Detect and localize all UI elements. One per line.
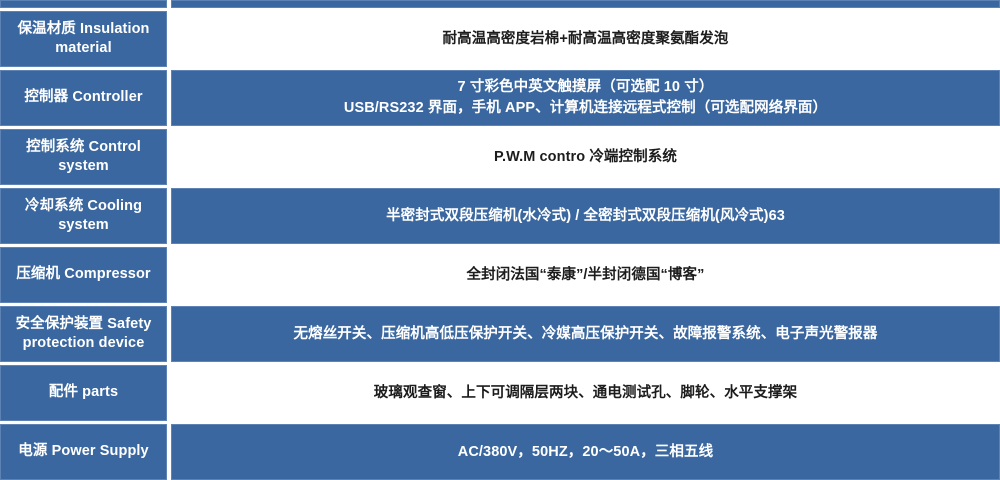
- table-cell-value: 玻璃观查窗、上下可调隔层两块、通电测试孔、脚轮、水平支撑架: [171, 365, 1000, 421]
- table-cell-value-line: USB/RS232 界面，手机 APP、计算机连接远程式控制（可选配网络界面）: [344, 98, 827, 119]
- table-row: 控制器 Controller7 寸彩色中英文触摸屏（可选配 10 寸）USB/R…: [0, 70, 1000, 126]
- table-row: 压缩机 Compressor全封闭法国“泰康”/半封闭德国“博客”: [0, 247, 1000, 303]
- table-cell-value-line: 7 寸彩色中英文触摸屏（可选配 10 寸）: [344, 77, 827, 98]
- table-row: 控制系统 Control systemP.W.M contro 冷端控制系统: [0, 129, 1000, 185]
- table-row: 配件 parts玻璃观查窗、上下可调隔层两块、通电测试孔、脚轮、水平支撑架: [0, 365, 1000, 421]
- table-row: 保温材质 Insulation material耐高温高密度岩棉+耐高温高密度聚…: [0, 11, 1000, 67]
- table-cell-label: 压缩机 Compressor: [0, 247, 167, 303]
- table-cell-value: [171, 0, 1000, 8]
- table-cell-value: 无熔丝开关、压缩机高低压保护开关、冷媒高压保护开关、故障报警系统、电子声光警报器: [171, 306, 1000, 362]
- table-row: 安全保护装置 Safety protection device无熔丝开关、压缩机…: [0, 306, 1000, 362]
- table-cell-value-line: 半密封式双段压缩机(水冷式) / 全密封式双段压缩机(风冷式)63: [386, 206, 785, 227]
- table-cell-value: P.W.M contro 冷端控制系统: [171, 129, 1000, 185]
- table-row: 冷却系统 Cooling system半密封式双段压缩机(水冷式) / 全密封式…: [0, 188, 1000, 244]
- table-cell-label: [0, 0, 167, 8]
- table-cell-value-line: 全封闭法国“泰康”/半封闭德国“博客”: [467, 265, 705, 286]
- table-cell-value: 半密封式双段压缩机(水冷式) / 全密封式双段压缩机(风冷式)63: [171, 188, 1000, 244]
- table-cell-value-line: AC/380V，50HZ，20～50A，三相五线: [458, 442, 713, 463]
- table-cell-label: 电源 Power Supply: [0, 424, 167, 480]
- table-row-partial-top: [0, 0, 1000, 8]
- table-cell-value-line: 耐高温高密度岩棉+耐高温高密度聚氨酯发泡: [443, 29, 729, 50]
- specification-table: 保温材质 Insulation material耐高温高密度岩棉+耐高温高密度聚…: [0, 0, 1000, 466]
- table-cell-value: 7 寸彩色中英文触摸屏（可选配 10 寸）USB/RS232 界面，手机 APP…: [171, 70, 1000, 126]
- table-cell-label: 控制器 Controller: [0, 70, 167, 126]
- table-row: 电源 Power SupplyAC/380V，50HZ，20～50A，三相五线: [0, 424, 1000, 480]
- table-cell-value-line: 玻璃观查窗、上下可调隔层两块、通电测试孔、脚轮、水平支撑架: [374, 383, 797, 404]
- table-cell-label: 配件 parts: [0, 365, 167, 421]
- table-body: 保温材质 Insulation material耐高温高密度岩棉+耐高温高密度聚…: [0, 11, 1000, 480]
- table-cell-label: 安全保护装置 Safety protection device: [0, 306, 167, 362]
- table-cell-value: AC/380V，50HZ，20～50A，三相五线: [171, 424, 1000, 480]
- table-cell-value-line: P.W.M contro 冷端控制系统: [494, 147, 677, 168]
- table-cell-label: 冷却系统 Cooling system: [0, 188, 167, 244]
- table-cell-value-line: 无熔丝开关、压缩机高低压保护开关、冷媒高压保护开关、故障报警系统、电子声光警报器: [294, 324, 878, 345]
- table-cell-label: 控制系统 Control system: [0, 129, 167, 185]
- table-cell-value: 全封闭法国“泰康”/半封闭德国“博客”: [171, 247, 1000, 303]
- table-cell-value: 耐高温高密度岩棉+耐高温高密度聚氨酯发泡: [171, 11, 1000, 67]
- table-cell-label: 保温材质 Insulation material: [0, 11, 167, 67]
